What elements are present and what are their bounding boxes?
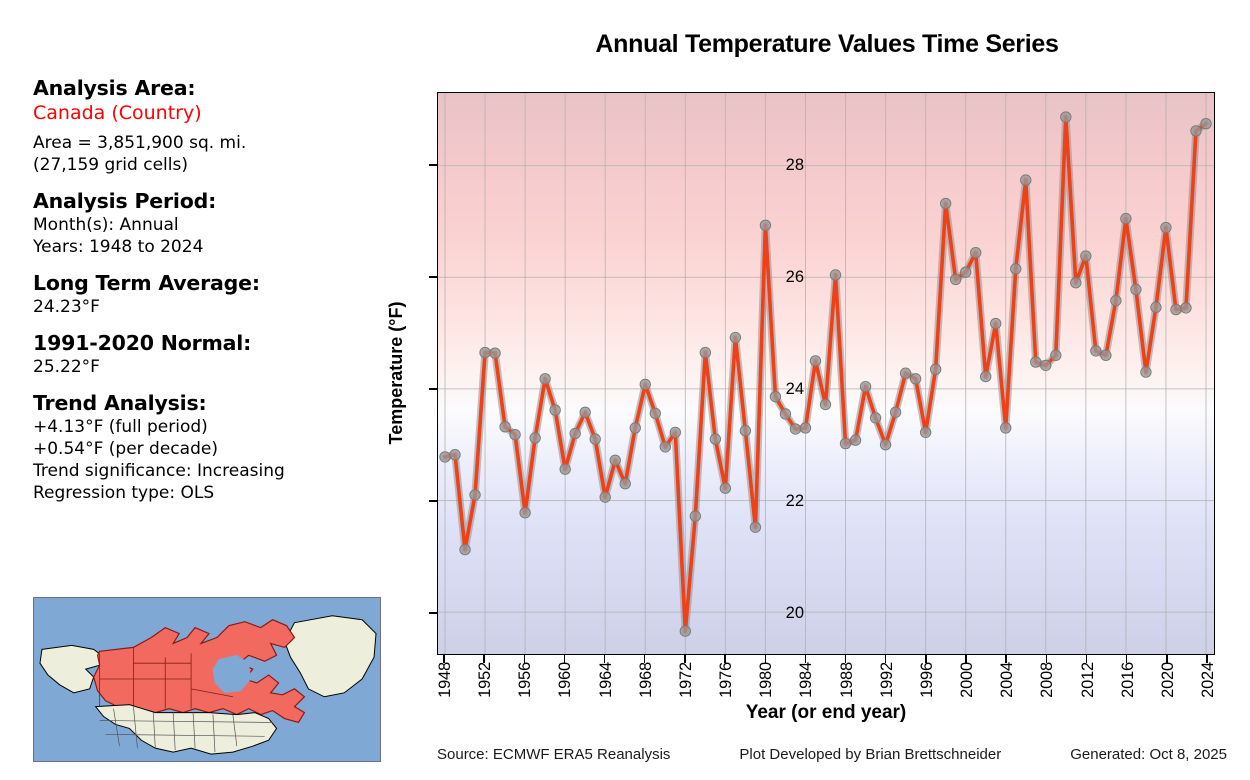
trend-per-decade: +0.54°F (per decade): [33, 438, 378, 460]
data-point-marker: [450, 450, 460, 460]
footer-generated: Generated: Oct 8, 2025: [1070, 746, 1227, 763]
analysis-period-heading: Analysis Period:: [33, 189, 378, 214]
data-point-marker: [1071, 278, 1081, 288]
analysis-area-block: Analysis Area: Canada (Country) Area = 3…: [33, 76, 378, 176]
data-point-marker: [820, 399, 830, 409]
long-term-average-block: Long Term Average: 24.23°F: [33, 271, 378, 318]
data-point-marker: [1051, 350, 1061, 360]
x-tick-label: 1960: [556, 662, 575, 698]
data-point-marker: [760, 220, 770, 230]
data-point-marker: [1081, 251, 1091, 261]
analysis-period-block: Analysis Period: Month(s): Annual Years:…: [33, 189, 378, 258]
data-point-marker: [1041, 360, 1051, 370]
data-point-marker: [830, 270, 840, 280]
data-point-marker: [590, 434, 600, 444]
y-tick-label: 28: [744, 156, 804, 175]
y-tick-mark: [429, 612, 437, 613]
data-point-marker: [1181, 303, 1191, 313]
data-point-marker: [950, 274, 960, 284]
series-line-halo: [445, 117, 1206, 631]
data-point-marker: [1021, 175, 1031, 185]
footer-source: Source: ECMWF ERA5 Reanalysis: [437, 746, 670, 763]
x-tick-label: 2008: [1038, 662, 1057, 698]
data-point-marker: [520, 508, 530, 518]
data-point-marker: [900, 368, 910, 378]
y-tick-mark: [429, 164, 437, 165]
y-tick-label: 20: [744, 604, 804, 623]
data-point-marker: [570, 428, 580, 438]
data-point-marker: [440, 452, 450, 462]
analysis-sidebar: Analysis Area: Canada (Country) Area = 3…: [33, 76, 378, 517]
x-tick-label: 1996: [918, 662, 937, 698]
chart-plot-area: [437, 92, 1215, 655]
data-point-marker: [1001, 423, 1011, 433]
footer-developer: Plot Developed by Brian Brettschneider: [739, 746, 1001, 763]
y-tick-label: 24: [744, 380, 804, 399]
analysis-years: Years: 1948 to 2024: [33, 236, 378, 258]
chart-plot-wrapper: [437, 92, 1215, 655]
data-point-marker: [740, 426, 750, 436]
analysis-grid-cells: (27,159 grid cells): [33, 154, 378, 176]
data-point-marker: [720, 483, 730, 493]
data-point-marker: [860, 381, 870, 391]
data-point-marker: [910, 374, 920, 384]
data-point-marker: [670, 427, 680, 437]
data-point-marker: [790, 424, 800, 434]
data-point-marker: [971, 247, 981, 257]
y-tick-mark: [429, 276, 437, 277]
data-point-marker: [480, 347, 490, 357]
y-tick-label: 26: [744, 268, 804, 287]
data-point-marker: [1141, 367, 1151, 377]
x-tick-label: 1984: [797, 662, 816, 698]
data-point-marker: [470, 490, 480, 500]
trend-significance: Trend significance: Increasing: [33, 460, 378, 482]
data-point-marker: [490, 348, 500, 358]
data-point-marker: [650, 408, 660, 418]
normal-block: 1991-2020 Normal: 25.22°F: [33, 331, 378, 378]
figure-root: Analysis Area: Canada (Country) Area = 3…: [0, 0, 1250, 780]
data-point-marker: [880, 439, 890, 449]
normal-value: 25.22°F: [33, 356, 378, 378]
data-point-marker: [1091, 346, 1101, 356]
data-point-marker: [1171, 304, 1181, 314]
x-tick-label: 1956: [516, 662, 535, 698]
data-point-marker: [810, 356, 820, 366]
data-point-marker: [800, 423, 810, 433]
x-tick-label: 2020: [1159, 662, 1178, 698]
chart-series-line: [445, 117, 1206, 631]
x-tick-label: 1968: [637, 662, 656, 698]
data-point-marker: [1061, 112, 1071, 122]
x-tick-label: 1964: [597, 662, 616, 698]
trend-analysis-block: Trend Analysis: +4.13°F (full period) +0…: [33, 391, 378, 504]
trend-full-period: +4.13°F (full period): [33, 416, 378, 438]
chart-title: Annual Temperature Values Time Series: [437, 30, 1217, 59]
long-term-average-value: 24.23°F: [33, 296, 378, 318]
trend-analysis-heading: Trend Analysis:: [33, 391, 378, 416]
data-point-marker: [690, 511, 700, 521]
data-point-marker: [940, 198, 950, 208]
chart-plot-svg: [438, 93, 1214, 654]
x-tick-label: 1948: [436, 662, 455, 698]
analysis-area-value: Canada (Country): [33, 101, 378, 126]
data-point-marker: [500, 422, 510, 432]
locator-map: [33, 597, 381, 762]
x-tick-label: 2012: [1079, 662, 1098, 698]
y-tick-mark: [429, 500, 437, 501]
data-point-marker: [700, 347, 710, 357]
x-tick-label: 2004: [998, 662, 1017, 698]
data-point-marker: [991, 318, 1001, 328]
x-tick-label: 2016: [1119, 662, 1138, 698]
data-point-marker: [1101, 350, 1111, 360]
data-point-marker: [780, 409, 790, 419]
data-point-marker: [840, 438, 850, 448]
data-point-marker: [890, 407, 900, 417]
x-tick-label: 1988: [838, 662, 857, 698]
data-point-marker: [1161, 222, 1171, 232]
data-point-marker: [1031, 357, 1041, 367]
data-point-marker: [710, 434, 720, 444]
data-point-marker: [750, 522, 760, 532]
data-point-marker: [1131, 284, 1141, 294]
data-point-marker: [960, 267, 970, 277]
locator-map-svg: [34, 598, 380, 761]
data-point-marker: [630, 423, 640, 433]
data-point-marker: [530, 433, 540, 443]
data-point-marker: [680, 626, 690, 636]
x-tick-label: 1976: [717, 662, 736, 698]
data-point-marker: [870, 413, 880, 423]
normal-heading: 1991-2020 Normal:: [33, 331, 378, 356]
x-tick-label: 1972: [677, 662, 696, 698]
analysis-area-size: Area = 3,851,900 sq. mi.: [33, 132, 378, 154]
data-point-marker: [580, 407, 590, 417]
data-point-marker: [1111, 295, 1121, 305]
data-point-marker: [1151, 302, 1161, 312]
data-point-marker: [730, 332, 740, 342]
data-point-marker: [640, 379, 650, 389]
data-point-marker: [550, 405, 560, 415]
x-axis-label: Year (or end year): [437, 702, 1215, 724]
x-tick-label: 1952: [476, 662, 495, 698]
data-point-marker: [600, 492, 610, 502]
data-point-marker: [540, 374, 550, 384]
data-point-marker: [460, 544, 470, 554]
figure-footer: Source: ECMWF ERA5 Reanalysis Plot Devel…: [437, 746, 1227, 763]
analysis-area-heading: Analysis Area:: [33, 76, 378, 101]
x-tick-label: 2000: [958, 662, 977, 698]
data-point-marker: [620, 479, 630, 489]
regression-type: Regression type: OLS: [33, 482, 378, 504]
data-point-marker: [1201, 119, 1211, 129]
data-point-marker: [1121, 213, 1131, 223]
x-tick-label: 2024: [1199, 662, 1218, 698]
y-axis-label: Temperature (°F): [386, 302, 407, 445]
y-tick-mark: [429, 388, 437, 389]
data-point-marker: [850, 435, 860, 445]
data-point-marker: [981, 371, 991, 381]
data-point-marker: [1011, 264, 1021, 274]
data-point-marker: [510, 429, 520, 439]
analysis-months: Month(s): Annual: [33, 214, 378, 236]
x-tick-label: 1980: [757, 662, 776, 698]
data-point-marker: [610, 455, 620, 465]
long-term-average-heading: Long Term Average:: [33, 271, 378, 296]
y-tick-label: 22: [744, 492, 804, 511]
data-point-marker: [920, 427, 930, 437]
data-point-marker: [660, 442, 670, 452]
data-point-marker: [560, 464, 570, 474]
data-point-marker: [1191, 126, 1201, 136]
x-tick-label: 1992: [878, 662, 897, 698]
data-point-marker: [930, 364, 940, 374]
